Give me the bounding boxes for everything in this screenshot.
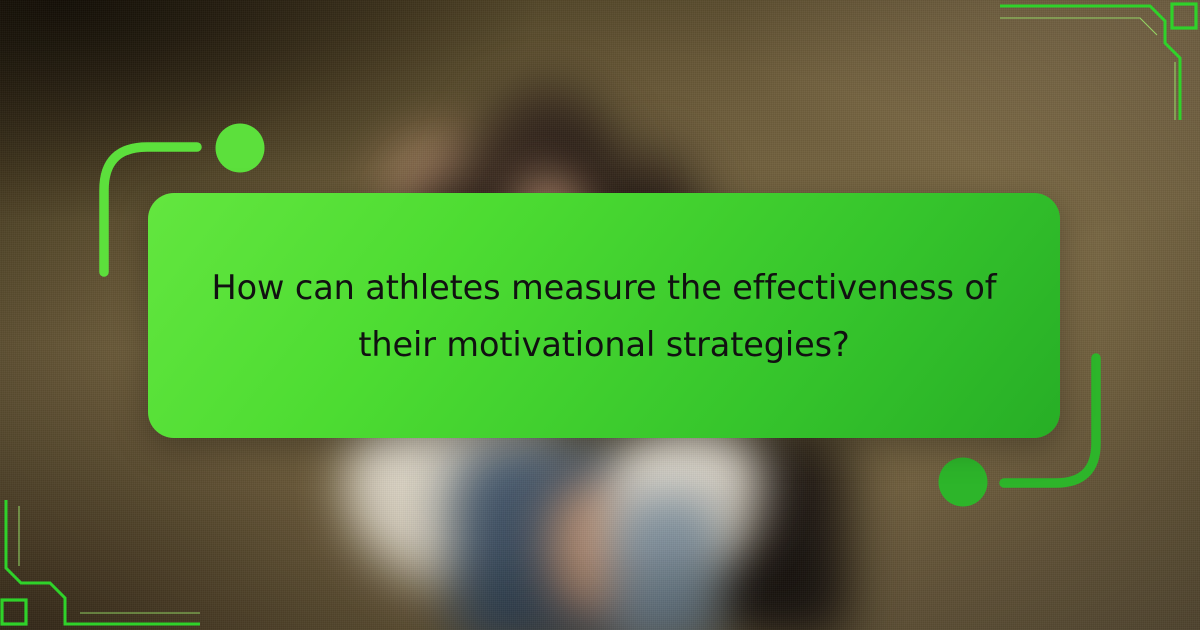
quote-text: How can athletes measure the effectivene… bbox=[206, 259, 1002, 373]
quote-card-graphic: How can athletes measure the effectivene… bbox=[0, 0, 1200, 630]
quote-card: How can athletes measure the effectivene… bbox=[148, 193, 1060, 438]
background-leg bbox=[612, 492, 720, 630]
